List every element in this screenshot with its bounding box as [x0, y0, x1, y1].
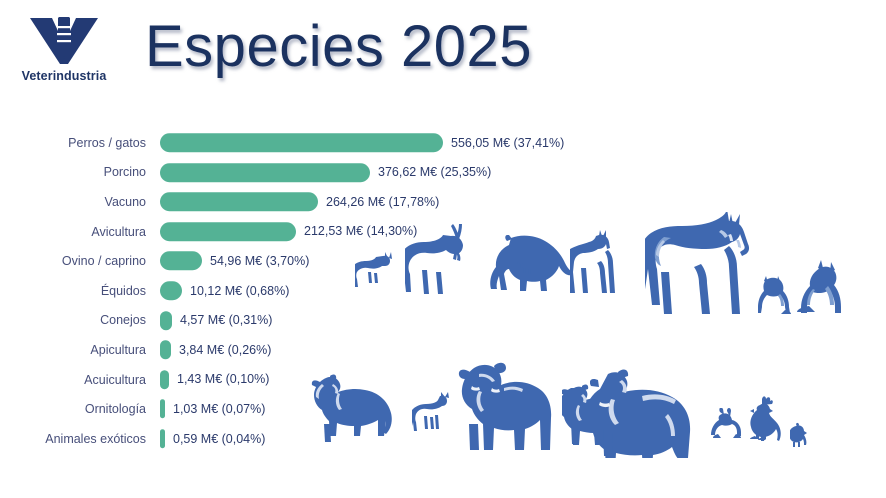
bar-value-label: 212,53 M€ (14,30%)	[304, 225, 417, 239]
bar-value-label: 376,62 M€ (25,35%)	[378, 165, 491, 179]
page-title: Especies 2025	[145, 12, 532, 82]
chart-row: Porcino 376,62 M€ (25,35%)	[0, 158, 886, 188]
bar[interactable]	[160, 311, 172, 330]
bar[interactable]	[160, 192, 318, 211]
category-label: Acuicultura	[84, 373, 146, 387]
bar-value-label: 4,57 M€ (0,31%)	[180, 313, 272, 327]
category-label: Apicultura	[90, 343, 146, 357]
bar[interactable]	[160, 281, 182, 300]
bar[interactable]	[160, 252, 202, 271]
bar[interactable]	[160, 370, 169, 389]
bar-track: 0,59 M€ (0,04%)	[160, 424, 265, 454]
bar-value-label: 1,43 M€ (0,10%)	[177, 373, 269, 387]
chart-row: Avicultura 212,53 M€ (14,30%)	[0, 217, 886, 247]
bar[interactable]	[160, 222, 296, 241]
category-label: Porcino	[104, 165, 146, 179]
bar-track: 1,03 M€ (0,07%)	[160, 394, 265, 424]
bar-value-label: 0,59 M€ (0,04%)	[173, 432, 265, 446]
category-label: Animales exóticos	[45, 432, 146, 446]
category-label: Avicultura	[91, 225, 146, 239]
category-label: Conejos	[100, 313, 146, 327]
category-label: Équidos	[101, 284, 146, 298]
bar[interactable]	[160, 340, 171, 359]
bar-value-label: 10,12 M€ (0,68%)	[190, 284, 289, 298]
chart-row: Apicultura 3,84 M€ (0,26%)	[0, 335, 886, 365]
chart-row: Perros / gatos 556,05 M€ (37,41%)	[0, 128, 886, 158]
bar-track: 376,62 M€ (25,35%)	[160, 158, 491, 188]
category-label: Ovino / caprino	[62, 254, 146, 268]
infographic-slide: Veterindustria Especies 2025	[0, 0, 886, 498]
bar-value-label: 264,26 M€ (17,78%)	[326, 195, 439, 209]
bar-track: 10,12 M€ (0,68%)	[160, 276, 289, 306]
bar[interactable]	[160, 133, 443, 152]
chart-row: Ovino / caprino 54,96 M€ (3,70%)	[0, 246, 886, 276]
category-label: Ornitología	[85, 402, 146, 416]
chart-row: Conejos 4,57 M€ (0,31%)	[0, 306, 886, 336]
bar-track: 3,84 M€ (0,26%)	[160, 335, 271, 365]
bar-track: 54,96 M€ (3,70%)	[160, 246, 309, 276]
species-bar-chart: Perros / gatos 556,05 M€ (37,41%) Porcin…	[0, 128, 886, 468]
chart-row: Équidos 10,12 M€ (0,68%)	[0, 276, 886, 306]
category-label: Perros / gatos	[68, 136, 146, 150]
bar[interactable]	[160, 163, 370, 182]
chart-row: Animales exóticos 0,59 M€ (0,04%)	[0, 424, 886, 454]
bar-track: 1,43 M€ (0,10%)	[160, 365, 269, 395]
chart-row: Ornitología 1,03 M€ (0,07%)	[0, 394, 886, 424]
bar-value-label: 1,03 M€ (0,07%)	[173, 402, 265, 416]
bar-track: 4,57 M€ (0,31%)	[160, 306, 272, 336]
bar-track: 556,05 M€ (37,41%)	[160, 128, 564, 158]
bar[interactable]	[160, 400, 165, 419]
bar-track: 212,53 M€ (14,30%)	[160, 217, 417, 247]
chart-row: Acuicultura 1,43 M€ (0,10%)	[0, 365, 886, 395]
bar-value-label: 556,05 M€ (37,41%)	[451, 136, 564, 150]
brand-logo: Veterindustria	[12, 14, 116, 83]
bar-value-label: 3,84 M€ (0,26%)	[179, 343, 271, 357]
chart-row: Vacuno 264,26 M€ (17,78%)	[0, 187, 886, 217]
veterindustria-v-syringe-logo-icon	[28, 14, 100, 66]
brand-name: Veterindustria	[12, 69, 116, 83]
bar-value-label: 54,96 M€ (3,70%)	[210, 254, 309, 268]
category-label: Vacuno	[105, 195, 146, 209]
bar[interactable]	[160, 429, 165, 448]
bar-track: 264,26 M€ (17,78%)	[160, 187, 439, 217]
